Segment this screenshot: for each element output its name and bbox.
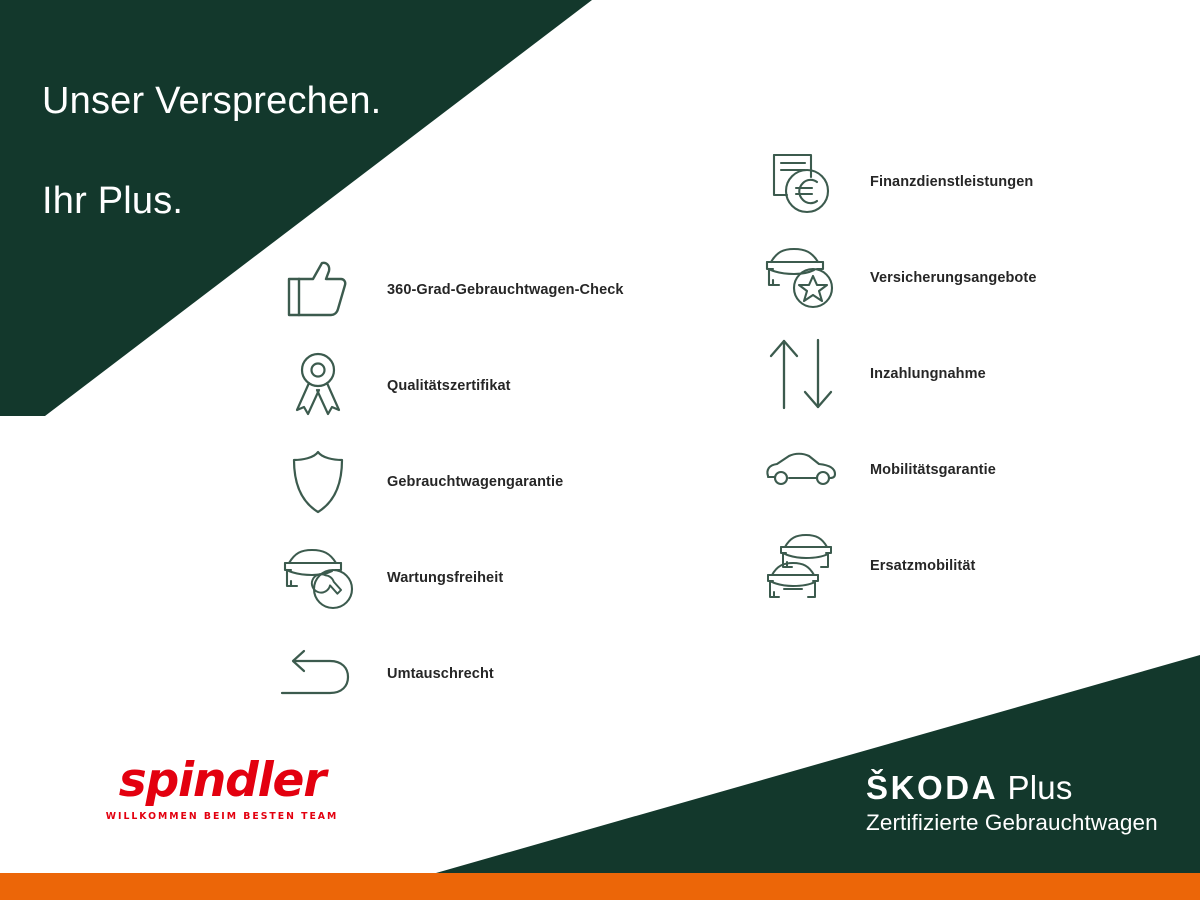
feature-item-certificate: Qualitätszertifikat [275,338,624,434]
feature-label: 360-Grad-Gebrauchtwagen-Check [387,282,624,298]
brand-logo-title: ŠKODA Plus [866,770,1158,807]
feature-label: Ersatzmobilität [870,558,975,574]
feature-label: Mobilitätsgarantie [870,462,996,478]
car-side-icon [758,427,844,513]
feature-item-tradein: Inzahlungnahme [758,326,1037,422]
feature-label: Versicherungsangebote [870,270,1037,286]
brand-logo-suffix: Plus [998,769,1072,806]
orange-bottom-bar [0,873,1200,900]
feature-item-mobility: Mobilitätsgarantie [758,422,1037,518]
dealer-logo-claim: WILLKOMMEN BEIM BESTEN TEAM [72,811,372,822]
document-euro-icon [758,139,844,225]
car-wrench-icon [275,535,361,621]
feature-item-return: Umtauschrecht [275,626,624,722]
feature-list-left: 360-Grad-Gebrauchtwagen-Check Qualitätsz… [275,242,624,722]
feature-label: Wartungsfreiheit [387,570,503,586]
brand-logo: ŠKODA Plus Zertifizierte Gebrauchtwagen [866,770,1158,836]
thumbs-up-icon [275,247,361,333]
page-title: Unser Versprechen. Ihr Plus. [42,26,381,277]
car-star-icon [758,235,844,321]
feature-item-check: 360-Grad-Gebrauchtwagen-Check [275,242,624,338]
promo-banner: Unser Versprechen. Ihr Plus. 360-Grad-Ge… [0,0,1200,900]
feature-label: Qualitätszertifikat [387,378,511,394]
feature-label: Finanzdienstleistungen [870,174,1033,190]
up-down-arrows-icon [758,331,844,417]
headline-line-1: Unser Versprechen. [42,76,381,126]
dealer-logo-name: spindler [72,757,372,804]
brand-logo-name: ŠKODA [866,769,998,806]
return-arrow-icon [275,631,361,717]
shield-icon [275,439,361,525]
headline-line-2: Ihr Plus. [42,176,381,226]
dealer-logo: spindler WILLKOMMEN BEIM BESTEN TEAM [72,757,372,822]
feature-label: Gebrauchtwagengarantie [387,474,563,490]
two-cars-icon [758,523,844,609]
feature-item-warranty: Gebrauchtwagengarantie [275,434,624,530]
feature-item-financing: Finanzdienstleistungen [758,134,1037,230]
feature-item-replacement: Ersatzmobilität [758,518,1037,614]
feature-item-maintenance: Wartungsfreiheit [275,530,624,626]
feature-label: Inzahlungnahme [870,366,986,382]
brand-logo-subtitle: Zertifizierte Gebrauchtwagen [866,810,1158,836]
quality-rosette-icon [275,343,361,429]
feature-label: Umtauschrecht [387,666,494,682]
feature-item-insurance: Versicherungsangebote [758,230,1037,326]
feature-list-right: Finanzdienstleistungen Versicherungsange… [758,134,1037,614]
